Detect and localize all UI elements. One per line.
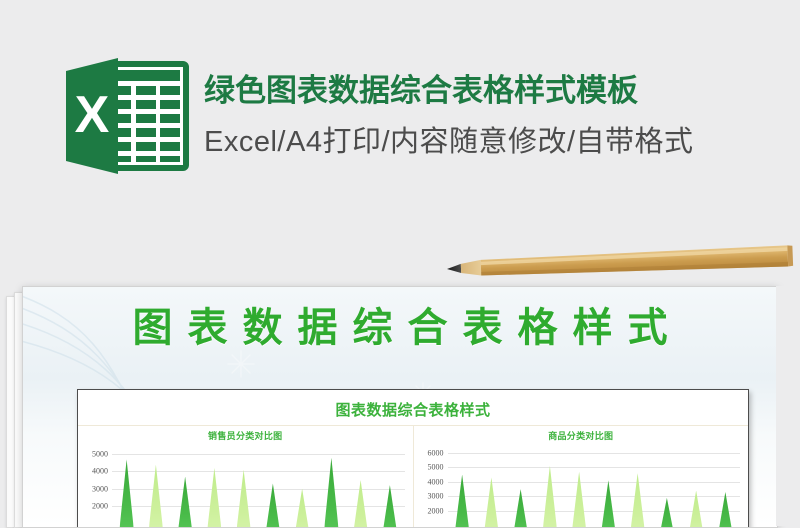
y-axis-tick-label: 4000 [428, 477, 444, 486]
bar-cone [177, 477, 194, 528]
y-axis-tick-label: 5000 [428, 463, 444, 472]
promo-banner: X 绿色图表数据综合表格样式模板 Excel/A4打印/内容随意修改/自带格式 [0, 0, 800, 240]
bar-cone [323, 458, 340, 528]
preview-sheet-front[interactable]: 图表数据综合表格样式 图表数据综合表格样式 销售员分类对比图 500040003… [22, 286, 778, 528]
bar-cone [629, 473, 646, 528]
pencil-icon [447, 243, 796, 282]
bar-cone [541, 466, 558, 528]
bars-right [448, 444, 741, 528]
y-axis-tick-label: 3000 [428, 492, 444, 501]
bar-cone [381, 485, 398, 528]
chart-card-title: 图表数据综合表格样式 [78, 399, 748, 420]
page-title: 绿色图表数据综合表格样式模板 [204, 71, 694, 111]
bar-cone [147, 465, 164, 528]
stage-right-gutter [776, 286, 800, 526]
preview-heading: 图表数据综合表格样式 [23, 304, 777, 352]
bar-cone [264, 483, 281, 528]
bars-left [112, 444, 405, 528]
bar-cone [600, 480, 617, 528]
bar-cone [235, 470, 252, 528]
chart-card[interactable]: 图表数据综合表格样式 销售员分类对比图 5000400030002000 商品分… [77, 389, 749, 528]
excel-logo-icon: X [62, 56, 190, 176]
template-preview[interactable]: 图表数据综合表格样式 图表数据综合表格样式 销售员分类对比图 500040003… [0, 286, 800, 526]
bar-cone [512, 489, 529, 528]
plot-area-left: 5000400030002000 [112, 444, 405, 528]
bar-cone [352, 480, 369, 528]
charts-row: 销售员分类对比图 5000400030002000 商品分类对比图 600050… [78, 425, 748, 528]
bar-cone [688, 491, 705, 528]
y-axis-tick-label: 2000 [428, 506, 444, 515]
bar-cone [118, 459, 135, 528]
chart-sales-by-product[interactable]: 商品分类对比图 60005000400030002000 [413, 426, 749, 528]
plot-area-right: 60005000400030002000 [448, 444, 741, 528]
chart-title-right: 商品分类对比图 [414, 429, 749, 442]
y-axis-tick-label: 2000 [92, 501, 108, 510]
y-axis-tick-label: 6000 [428, 448, 444, 457]
page-subtitle: Excel/A4打印/内容随意修改/自带格式 [204, 123, 694, 161]
bar-cone [454, 475, 471, 528]
chart-title-left: 销售员分类对比图 [78, 429, 413, 442]
bar-cone [717, 492, 734, 528]
y-axis-tick-label: 3000 [92, 484, 108, 493]
banner-content: X 绿色图表数据综合表格样式模板 Excel/A4打印/内容随意修改/自带格式 [62, 56, 694, 176]
bar-cone [294, 489, 311, 528]
y-axis-tick-label: 4000 [92, 467, 108, 476]
bar-cone [658, 498, 675, 528]
bar-cone [206, 468, 223, 528]
chart-sales-by-person[interactable]: 销售员分类对比图 5000400030002000 [78, 426, 413, 528]
svg-text:X: X [75, 86, 110, 144]
bar-cone [483, 477, 500, 528]
y-axis-tick-label: 5000 [92, 450, 108, 459]
banner-text-block: 绿色图表数据综合表格样式模板 Excel/A4打印/内容随意修改/自带格式 [204, 71, 694, 161]
bar-cone [571, 472, 588, 528]
